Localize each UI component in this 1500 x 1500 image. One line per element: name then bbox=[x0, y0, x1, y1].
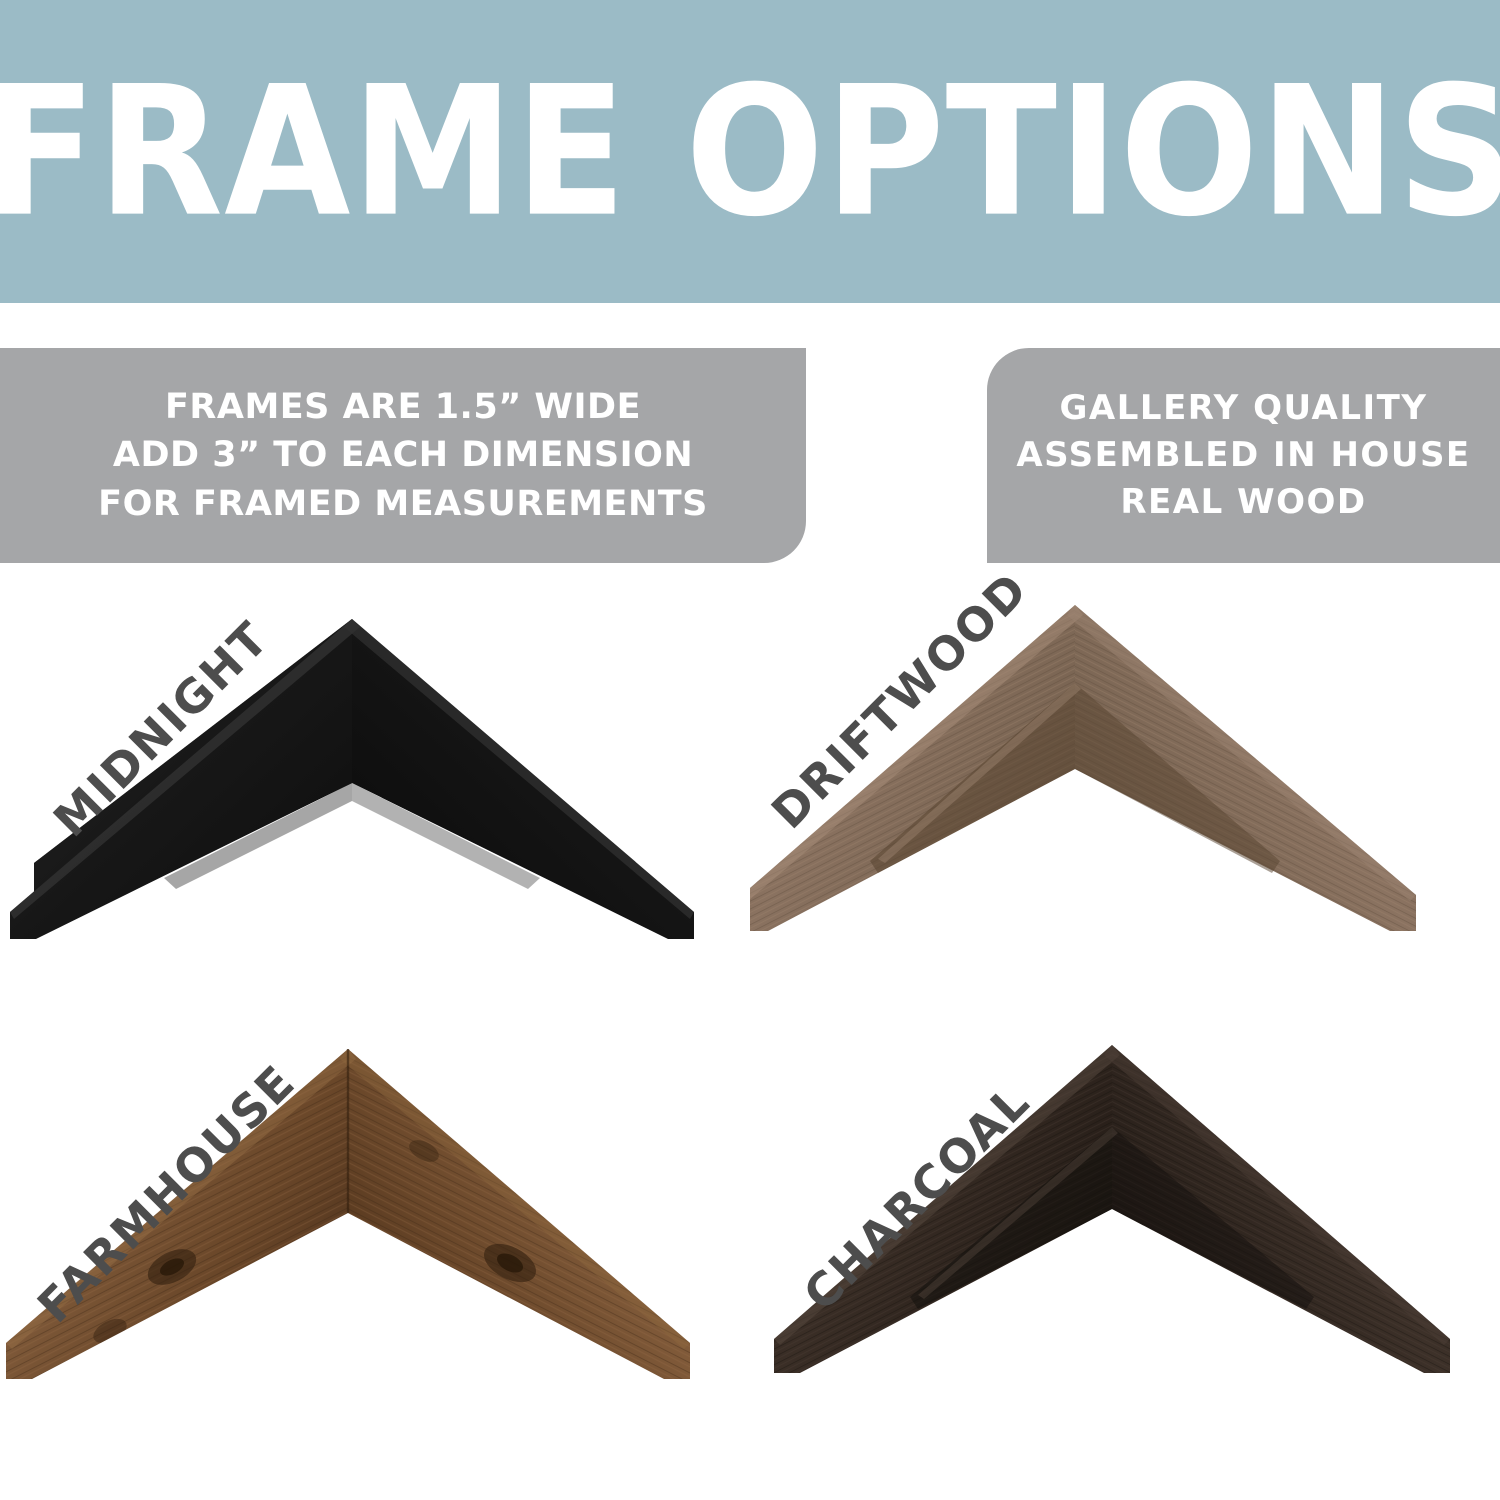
frame-samples-grid: MIDNIGHT bbox=[0, 563, 1500, 1500]
info-panel-measurements: FRAMES ARE 1.5” WIDE ADD 3” TO EACH DIME… bbox=[0, 348, 806, 563]
info-left-line-1: FRAMES ARE 1.5” WIDE bbox=[98, 383, 708, 431]
page-title: FRAME OPTIONS bbox=[0, 62, 1500, 241]
frame-sample-driftwood[interactable]: DRIFTWOOD bbox=[750, 563, 1500, 1031]
frame-sample-farmhouse[interactable]: FARMHOUSE bbox=[0, 1031, 750, 1499]
frame-sample-charcoal[interactable]: CHARCOAL bbox=[750, 1031, 1500, 1499]
frame-sample-midnight[interactable]: MIDNIGHT bbox=[0, 563, 750, 1031]
header-banner: FRAME OPTIONS bbox=[0, 0, 1500, 303]
info-left-line-2: ADD 3” TO EACH DIMENSION bbox=[98, 431, 708, 479]
info-panel-quality: GALLERY QUALITY ASSEMBLED IN HOUSE REAL … bbox=[987, 348, 1500, 563]
info-left-line-3: FOR FRAMED MEASUREMENTS bbox=[98, 480, 708, 528]
frame-corner-driftwood-icon bbox=[750, 563, 1500, 1031]
info-right-line-1: GALLERY QUALITY bbox=[1016, 385, 1470, 432]
info-right-line-3: REAL WOOD bbox=[1016, 479, 1470, 526]
info-right-line-2: ASSEMBLED IN HOUSE bbox=[1016, 432, 1470, 479]
